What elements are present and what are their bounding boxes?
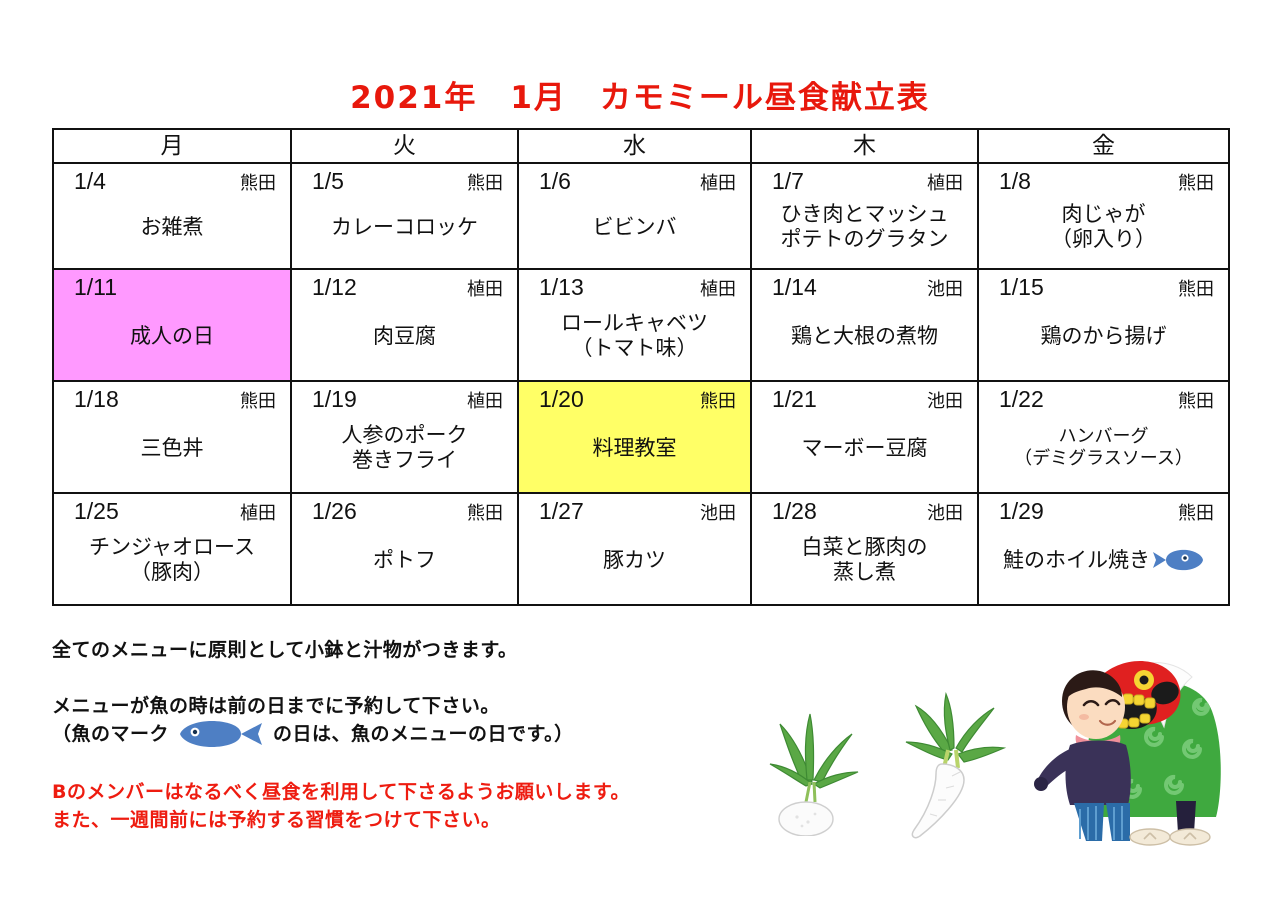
- day-date: 1/5: [312, 168, 344, 194]
- shishimai-illustration: [1000, 645, 1225, 850]
- day-menu-text: マーボー豆腐: [802, 436, 928, 461]
- day-date: 1/15: [999, 274, 1044, 300]
- day-date: 1/26: [312, 498, 357, 524]
- day-menu: 豚カツ: [519, 524, 750, 604]
- day-cell-header: 1/7植田: [752, 164, 977, 194]
- note-fish-mark-prefix: （魚のマーク: [52, 720, 169, 748]
- note-line-reserve-week-ahead: また、一週間前には予約する習慣をつけて下さい。: [52, 806, 712, 834]
- day-menu: ポトフ: [292, 524, 517, 604]
- weekday-header-tue: 火: [291, 129, 518, 163]
- calendar-week-row: 1/11成人の日1/12植田肉豆腐1/13植田ロールキャベツ （トマト味）1/1…: [53, 269, 1229, 381]
- day-menu-text: カレーコロッケ: [331, 215, 478, 240]
- calendar-day-cell[interactable]: 1/18熊田三色丼: [53, 381, 291, 493]
- day-cell-header: 1/11: [54, 270, 290, 300]
- day-menu: 三色丼: [54, 412, 290, 492]
- day-menu: 肉豆腐: [292, 300, 517, 380]
- day-date: 1/6: [539, 168, 571, 194]
- note-line-side-dishes: 全てのメニューに原則として小鉢と汁物がつきます。: [52, 636, 712, 664]
- day-menu: ひき肉とマッシュ ポテトのグラタン: [752, 194, 977, 268]
- note-fish-mark-suffix: の日は、魚のメニューの日です。）: [273, 720, 574, 748]
- day-date: 1/29: [999, 498, 1044, 524]
- day-menu-text: 鶏と大根の煮物: [791, 324, 938, 349]
- calendar-day-cell[interactable]: 1/25植田チンジャオロース （豚肉）: [53, 493, 291, 605]
- day-menu-text: お雑煮: [141, 215, 204, 240]
- day-date: 1/20: [539, 386, 584, 412]
- calendar-day-cell[interactable]: 1/26熊田ポトフ: [291, 493, 518, 605]
- day-cell-header: 1/18熊田: [54, 382, 290, 412]
- day-menu-text: 鮭のホイル焼き: [1003, 548, 1150, 573]
- weekday-header-wed: 水: [518, 129, 751, 163]
- day-menu: 料理教室: [519, 412, 750, 492]
- day-cell-header: 1/12植田: [292, 270, 517, 300]
- day-date: 1/28: [772, 498, 817, 524]
- day-menu-text: ロールキャベツ （トマト味）: [561, 311, 708, 361]
- day-cell-header: 1/22熊田: [979, 382, 1228, 412]
- day-menu: 白菜と豚肉の 蒸し煮: [752, 524, 977, 604]
- day-menu-text: ハンバーグ （デミグラスソース）: [1014, 426, 1193, 470]
- fish-icon: [179, 721, 263, 747]
- day-menu: チンジャオロース （豚肉）: [54, 524, 290, 604]
- day-cell-header: 1/5熊田: [292, 164, 517, 194]
- day-menu: 鮭のホイル焼き: [979, 524, 1228, 604]
- day-date: 1/21: [772, 386, 817, 412]
- calendar-day-cell[interactable]: 1/22熊田ハンバーグ （デミグラスソース）: [978, 381, 1229, 493]
- day-menu-text: ポトフ: [373, 548, 436, 573]
- day-menu-text: ひき肉とマッシュ ポテトのグラタン: [781, 202, 949, 252]
- day-menu: ロールキャベツ （トマト味）: [519, 300, 750, 380]
- note-line-fish-mark: （魚のマーク の日は、魚のメニューの日です。）: [52, 720, 712, 748]
- calendar-day-cell[interactable]: 1/19植田人参のポーク 巻きフライ: [291, 381, 518, 493]
- calendar-day-cell[interactable]: 1/15熊田鶏のから揚げ: [978, 269, 1229, 381]
- day-cell-header: 1/19植田: [292, 382, 517, 412]
- day-cell-header: 1/14池田: [752, 270, 977, 300]
- weekday-header-mon: 月: [53, 129, 291, 163]
- day-menu: 成人の日: [54, 300, 290, 380]
- day-menu-text: チンジャオロース （豚肉）: [89, 535, 255, 585]
- day-date: 1/4: [74, 168, 106, 194]
- calendar-day-cell[interactable]: 1/5熊田カレーコロッケ: [291, 163, 518, 269]
- day-cell-header: 1/25植田: [54, 494, 290, 524]
- day-date: 1/13: [539, 274, 584, 300]
- day-menu-text: 肉じゃが （卵入り）: [1051, 202, 1156, 252]
- day-date: 1/27: [539, 498, 584, 524]
- day-cell-header: 1/15熊田: [979, 270, 1228, 300]
- day-cell-header: 1/6植田: [519, 164, 750, 194]
- calendar-day-cell[interactable]: 1/8熊田肉じゃが （卵入り）: [978, 163, 1229, 269]
- fish-icon: [1152, 549, 1204, 571]
- note-line-b-members: Bのメンバーはなるべく昼食を利用して下さるようお願いします。: [52, 778, 712, 806]
- day-menu: 鶏と大根の煮物: [752, 300, 977, 380]
- calendar-week-row: 1/4熊田お雑煮1/5熊田カレーコロッケ1/6植田ビビンバ1/7植田ひき肉とマッ…: [53, 163, 1229, 269]
- day-date: 1/11: [74, 274, 117, 300]
- calendar-day-cell[interactable]: 1/14池田鶏と大根の煮物: [751, 269, 978, 381]
- day-menu-text: 料理教室: [593, 436, 677, 461]
- day-menu-text: 豚カツ: [603, 548, 666, 573]
- day-date: 1/12: [312, 274, 357, 300]
- menu-calendar-table: 月 火 水 木 金 1/4熊田お雑煮1/5熊田カレーコロッケ1/6植田ビビンバ1…: [52, 128, 1230, 606]
- notes-section: 全てのメニューに原則として小鉢と汁物がつきます。 メニューが魚の時は前の日までに…: [52, 636, 712, 834]
- day-cell-header: 1/29熊田: [979, 494, 1228, 524]
- day-date: 1/22: [999, 386, 1044, 412]
- day-menu-text: 肉豆腐: [373, 324, 436, 349]
- calendar-day-cell[interactable]: 1/12植田肉豆腐: [291, 269, 518, 381]
- day-menu-text: 三色丼: [141, 436, 204, 461]
- calendar-day-cell[interactable]: 1/13植田ロールキャベツ （トマト味）: [518, 269, 751, 381]
- day-cell-header: 1/28池田: [752, 494, 977, 524]
- calendar-day-cell[interactable]: 1/4熊田お雑煮: [53, 163, 291, 269]
- calendar-day-cell[interactable]: 1/11成人の日: [53, 269, 291, 381]
- note-red-block: Bのメンバーはなるべく昼食を利用して下さるようお願いします。 また、一週間前には…: [52, 778, 712, 834]
- day-date: 1/25: [74, 498, 119, 524]
- day-cell-header: 1/20熊田: [519, 382, 750, 412]
- day-menu: 人参のポーク 巻きフライ: [292, 412, 517, 492]
- day-date: 1/8: [999, 168, 1031, 194]
- day-menu: ハンバーグ （デミグラスソース）: [979, 412, 1228, 492]
- day-cell-header: 1/21池田: [752, 382, 977, 412]
- day-menu-text: 人参のポーク 巻きフライ: [342, 423, 468, 473]
- calendar-day-cell[interactable]: 1/28池田白菜と豚肉の 蒸し煮: [751, 493, 978, 605]
- day-menu-text: ビビンバ: [593, 215, 677, 240]
- turnip-illustration: [752, 686, 872, 836]
- page-title: 2021年 1月 カモミール昼食献立表: [0, 72, 1280, 117]
- calendar-week-row: 1/25植田チンジャオロース （豚肉）1/26熊田ポトフ1/27池田豚カツ1/2…: [53, 493, 1229, 605]
- day-cell-header: 1/13植田: [519, 270, 750, 300]
- day-menu: お雑煮: [54, 194, 290, 268]
- day-menu: ビビンバ: [519, 194, 750, 268]
- calendar-day-cell[interactable]: 1/27池田豚カツ: [518, 493, 751, 605]
- daikon-illustration: [880, 690, 1010, 840]
- calendar-week-row: 1/18熊田三色丼1/19植田人参のポーク 巻きフライ1/20熊田料理教室1/2…: [53, 381, 1229, 493]
- day-menu: マーボー豆腐: [752, 412, 977, 492]
- day-menu-text: 白菜と豚肉の 蒸し煮: [802, 535, 928, 585]
- calendar-day-cell[interactable]: 1/7植田ひき肉とマッシュ ポテトのグラタン: [751, 163, 978, 269]
- day-menu: カレーコロッケ: [292, 194, 517, 268]
- calendar-day-cell[interactable]: 1/21池田マーボー豆腐: [751, 381, 978, 493]
- calendar-day-cell[interactable]: 1/6植田ビビンバ: [518, 163, 751, 269]
- note-line-fish-reservation: メニューが魚の時は前の日までに予約して下さい。: [52, 692, 712, 720]
- weekday-header-thu: 木: [751, 129, 978, 163]
- day-menu: 肉じゃが （卵入り）: [979, 194, 1228, 268]
- day-cell-header: 1/27池田: [519, 494, 750, 524]
- day-date: 1/7: [772, 168, 804, 194]
- day-menu: 鶏のから揚げ: [979, 300, 1228, 380]
- calendar-day-cell[interactable]: 1/20熊田料理教室: [518, 381, 751, 493]
- day-date: 1/19: [312, 386, 357, 412]
- day-date: 1/14: [772, 274, 817, 300]
- day-menu-text: 成人の日: [130, 324, 214, 349]
- day-cell-header: 1/4熊田: [54, 164, 290, 194]
- day-date: 1/18: [74, 386, 119, 412]
- weekday-header-fri: 金: [978, 129, 1229, 163]
- calendar-body: 1/4熊田お雑煮1/5熊田カレーコロッケ1/6植田ビビンバ1/7植田ひき肉とマッ…: [53, 163, 1229, 605]
- day-menu-text: 鶏のから揚げ: [1041, 324, 1167, 349]
- day-cell-header: 1/26熊田: [292, 494, 517, 524]
- weekday-header-row: 月 火 水 木 金: [53, 129, 1229, 163]
- day-cell-header: 1/8熊田: [979, 164, 1228, 194]
- calendar-day-cell[interactable]: 1/29熊田鮭のホイル焼き: [978, 493, 1229, 605]
